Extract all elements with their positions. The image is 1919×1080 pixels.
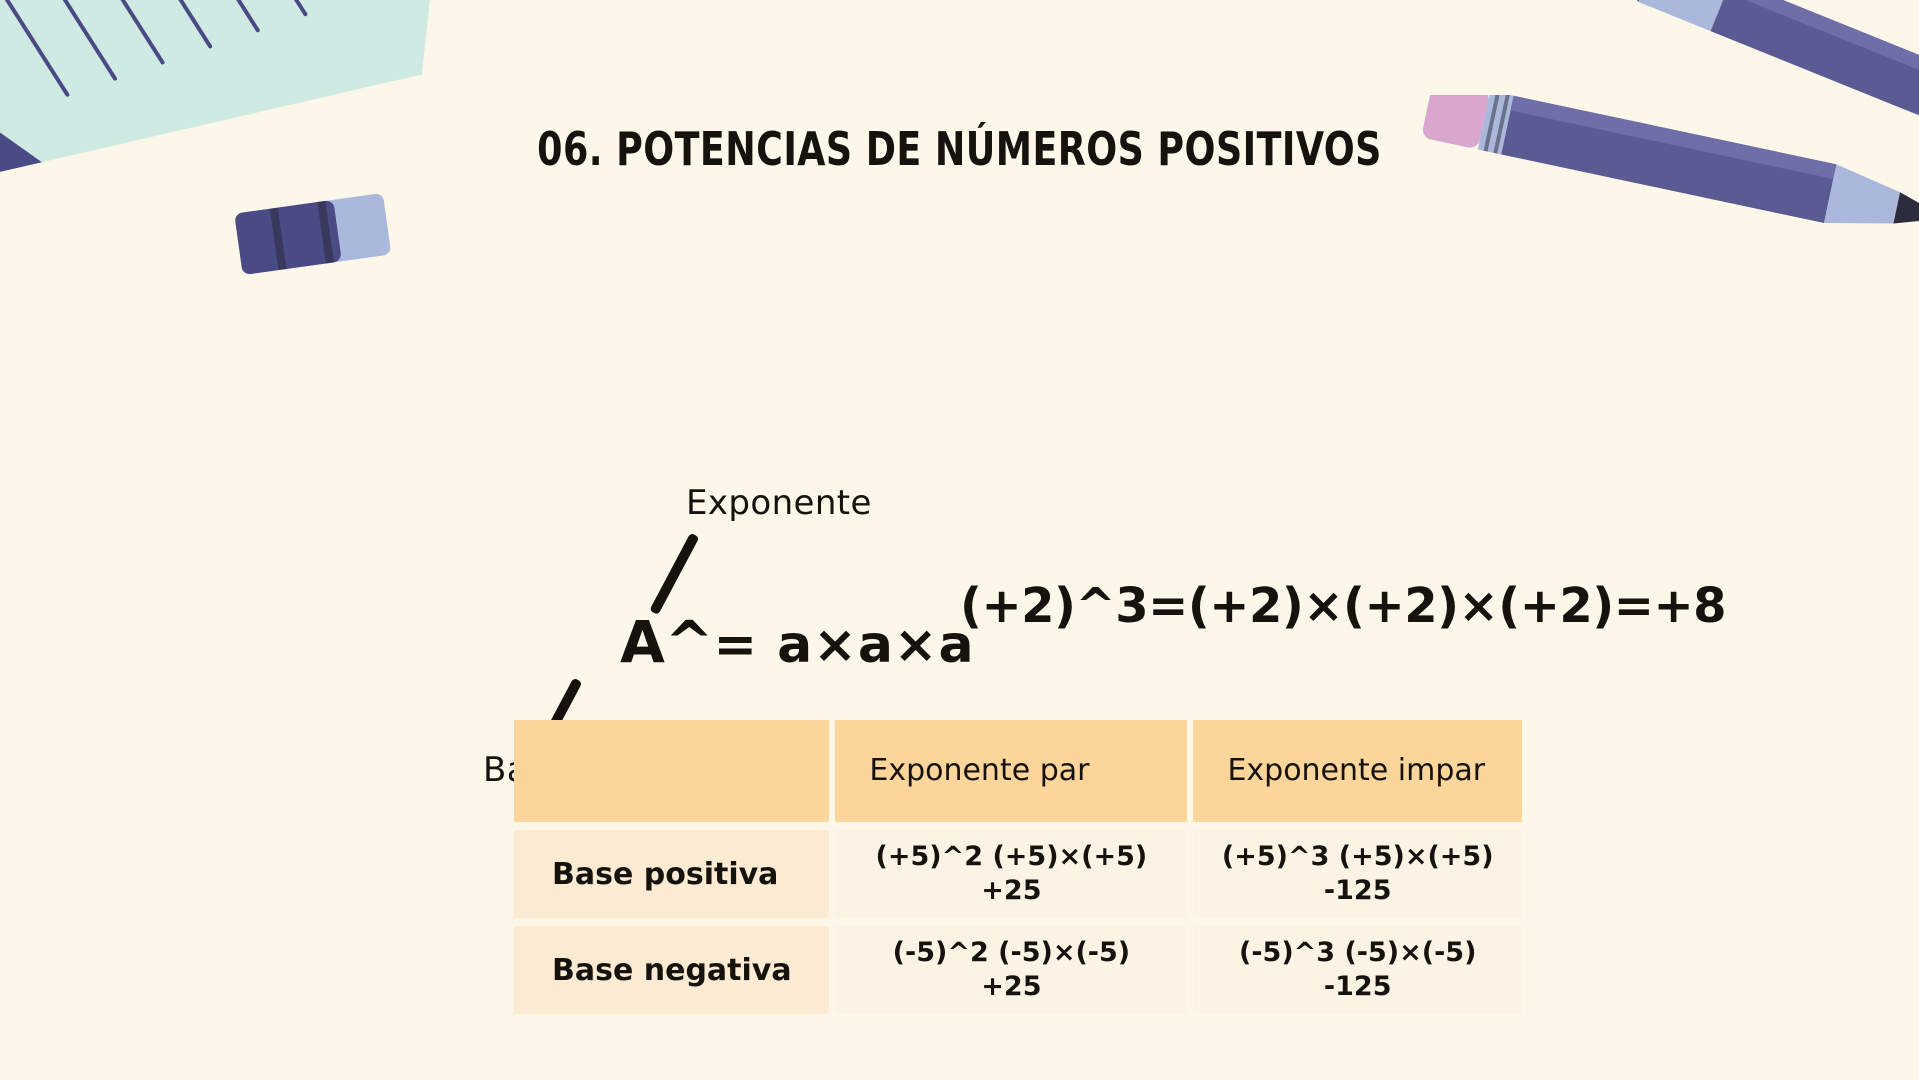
worked-example: (+2)^3=(+2)×(+2)×(+2)=+8 [960,578,1726,634]
cell-negative-odd: (-5)^3 (-5)×(-5) -125 [1193,926,1522,1014]
cell-negative-even: (-5)^2 (-5)×(-5) +25 [835,926,1187,1014]
cell-positive-even: (+5)^2 (+5)×(+5) +25 [835,830,1187,918]
header-cell-even-exponent: Exponente par [835,720,1187,822]
definition-expansion: = a×a×a [714,615,975,675]
cell-line-1: (+5)^3 (+5)×(+5) [1222,841,1494,872]
definition-base: A^ [620,608,714,676]
cell-line-2: -125 [1193,874,1522,908]
table-row: Base positiva (+5)^2 (+5)×(+5) +25 (+5)^… [514,830,1522,918]
table-row: Base negativa (-5)^2 (-5)×(-5) +25 (-5)^… [514,926,1522,1014]
cell-line-1: (+5)^2 (+5)×(+5) [876,841,1148,872]
pencil-icon [1590,0,1919,130]
cell-line-1: (-5)^2 (-5)×(-5) [893,937,1130,968]
formula-diagram: Exponente A^= a×a×a Base (+2)^3=(+2)×(+2… [0,230,1919,560]
header-cell-blank [514,720,829,822]
row-label-positive-base: Base positiva [514,830,829,918]
cell-line-1: (-5)^3 (-5)×(-5) [1239,937,1476,968]
exponent-pointer-line [649,533,699,615]
table-header-row: Exponente par Exponente impar [514,720,1522,822]
header-cell-odd-exponent: Exponente impar [1193,720,1522,822]
cell-line-2: +25 [835,874,1187,908]
power-definition: A^= a×a×a [620,608,975,676]
powers-sign-table: Exponente par Exponente impar Base posit… [508,712,1528,1022]
slide-canvas: 06. POTENCIAS DE NÚMEROS POSITIVOS Expon… [0,0,1919,1080]
cell-line-2: -125 [1193,970,1522,1004]
row-label-negative-base: Base negativa [514,926,829,1014]
exponent-label: Exponente [686,483,872,523]
cell-positive-odd: (+5)^3 (+5)×(+5) -125 [1193,830,1522,918]
notepad-icon [0,0,580,220]
cell-line-2: +25 [835,970,1187,1004]
page-title: 06. POTENCIAS DE NÚMEROS POSITIVOS [115,122,1804,176]
